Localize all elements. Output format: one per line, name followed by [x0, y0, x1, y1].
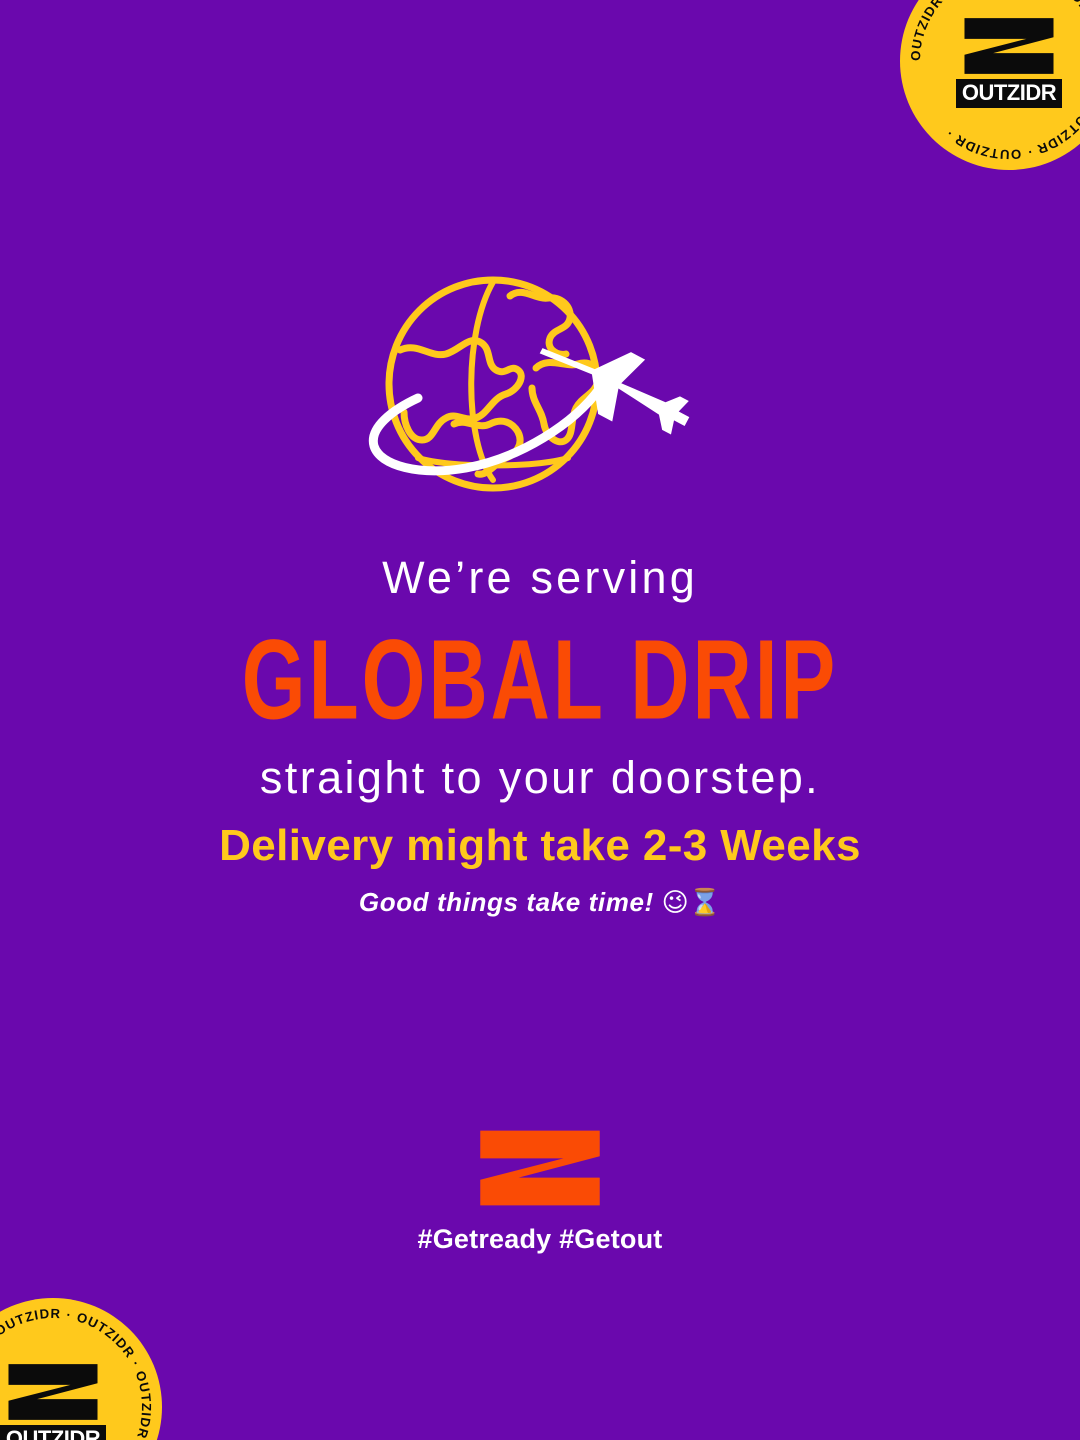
outzidr-badge-bottom-left: OUTZIDR · OUTZIDR · OUTZIDR · OUTZIDR · …: [0, 1298, 162, 1440]
badge-ring-text: OUTZIDR · OUTZIDR · OUTZIDR · OUTZIDR · …: [0, 1306, 154, 1440]
outzidr-z-logo-icon: [476, 1122, 604, 1214]
footer-brand: #Getready #Getout: [0, 1122, 1080, 1255]
copy-headline: GLOBAL DRIP: [0, 612, 1080, 750]
delivery-notice: Delivery might take 2-3 Weeks: [0, 820, 1080, 873]
badge-ring-svg: OUTZIDR · OUTZIDR · OUTZIDR · OUTZIDR · …: [0, 1298, 162, 1440]
headline-block: We’re serving GLOBAL DRIP straight to yo…: [0, 552, 1080, 804]
delivery-block: Delivery might take 2-3 Weeks Good thing…: [0, 820, 1080, 919]
delivery-subnote-text: Good things take time!: [359, 887, 654, 917]
copy-line-doorstep: straight to your doorstep.: [0, 752, 1080, 804]
delivery-subnote-emoji: 😉⌛: [662, 888, 721, 918]
hero-illustration: [0, 272, 1080, 504]
copy-line-serving: We’re serving: [0, 552, 1080, 604]
promo-poster: OUTZIDR · OUTZIDR · OUTZIDR · OUTZIDR · …: [0, 0, 1080, 1440]
badge-ring-svg: OUTZIDR · OUTZIDR · OUTZIDR · OUTZIDR · …: [900, 0, 1080, 170]
badge-ring-text: OUTZIDR · OUTZIDR · OUTZIDR · OUTZIDR · …: [908, 0, 1080, 162]
globe-airplane-icon: [360, 272, 720, 504]
footer-hashtags: #Getready #Getout: [418, 1223, 663, 1255]
delivery-subnote: Good things take time! 😉⌛: [0, 887, 1080, 919]
outzidr-badge-top-right: OUTZIDR · OUTZIDR · OUTZIDR · OUTZIDR · …: [900, 0, 1080, 170]
